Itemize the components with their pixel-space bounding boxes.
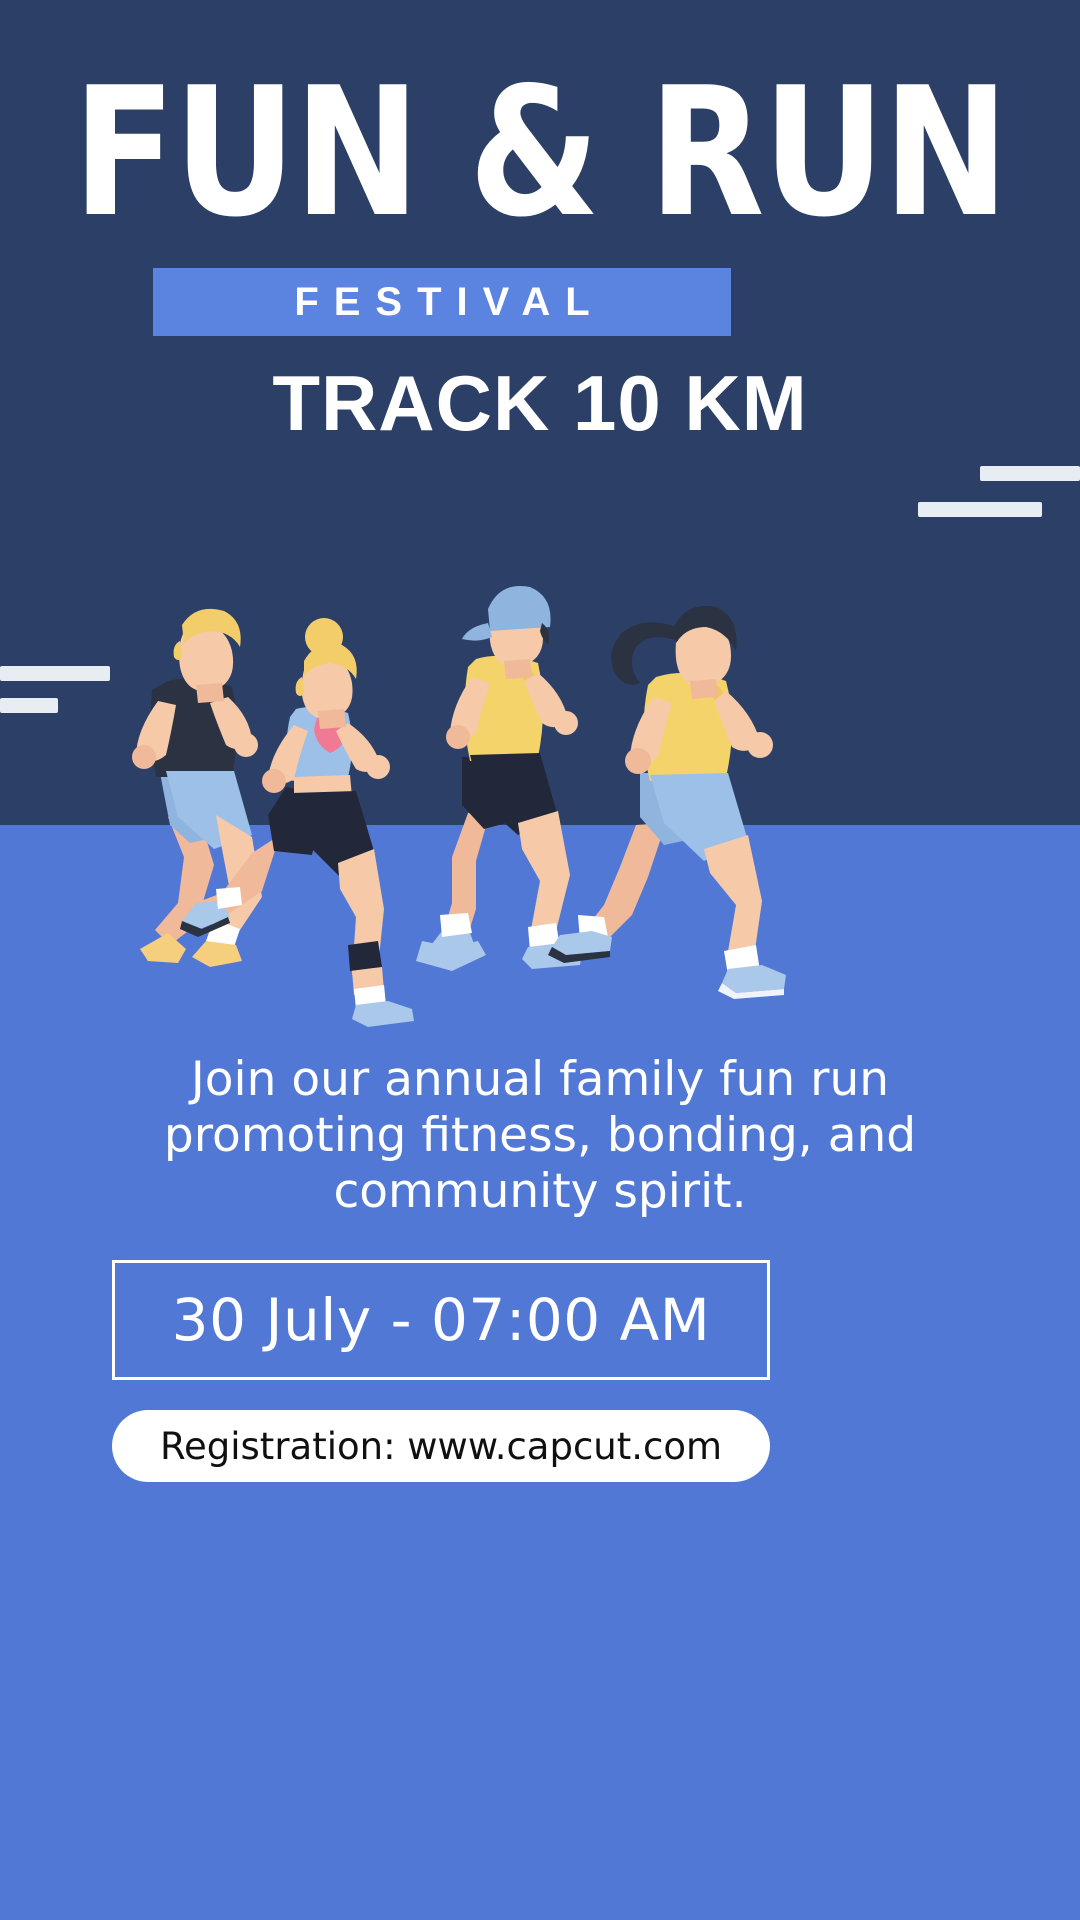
date-time-box: 30 July - 07:00 AM: [112, 1260, 770, 1380]
date-time-label: 30 July - 07:00 AM: [172, 1286, 711, 1354]
poster-canvas: FUN & RUN FESTIVAL TRACK 10 KM: [0, 0, 1080, 1920]
registration-label: Registration: www.capcut.com: [160, 1425, 722, 1468]
runners-illustration: [0, 505, 1080, 1045]
description-text: Join our annual family fun run promoting…: [90, 1052, 990, 1220]
festival-band: FESTIVAL: [153, 268, 731, 336]
poster-title: FUN & RUN: [32, 78, 1047, 228]
festival-label: FESTIVAL: [279, 280, 604, 325]
distance-heading: TRACK 10 KM: [0, 358, 1080, 449]
dash-right-upper-icon: [980, 466, 1080, 481]
runner-4-woman-ponytail: [548, 606, 786, 999]
registration-pill[interactable]: Registration: www.capcut.com: [112, 1410, 770, 1482]
runner-3-man-cap-tank: [416, 586, 582, 971]
